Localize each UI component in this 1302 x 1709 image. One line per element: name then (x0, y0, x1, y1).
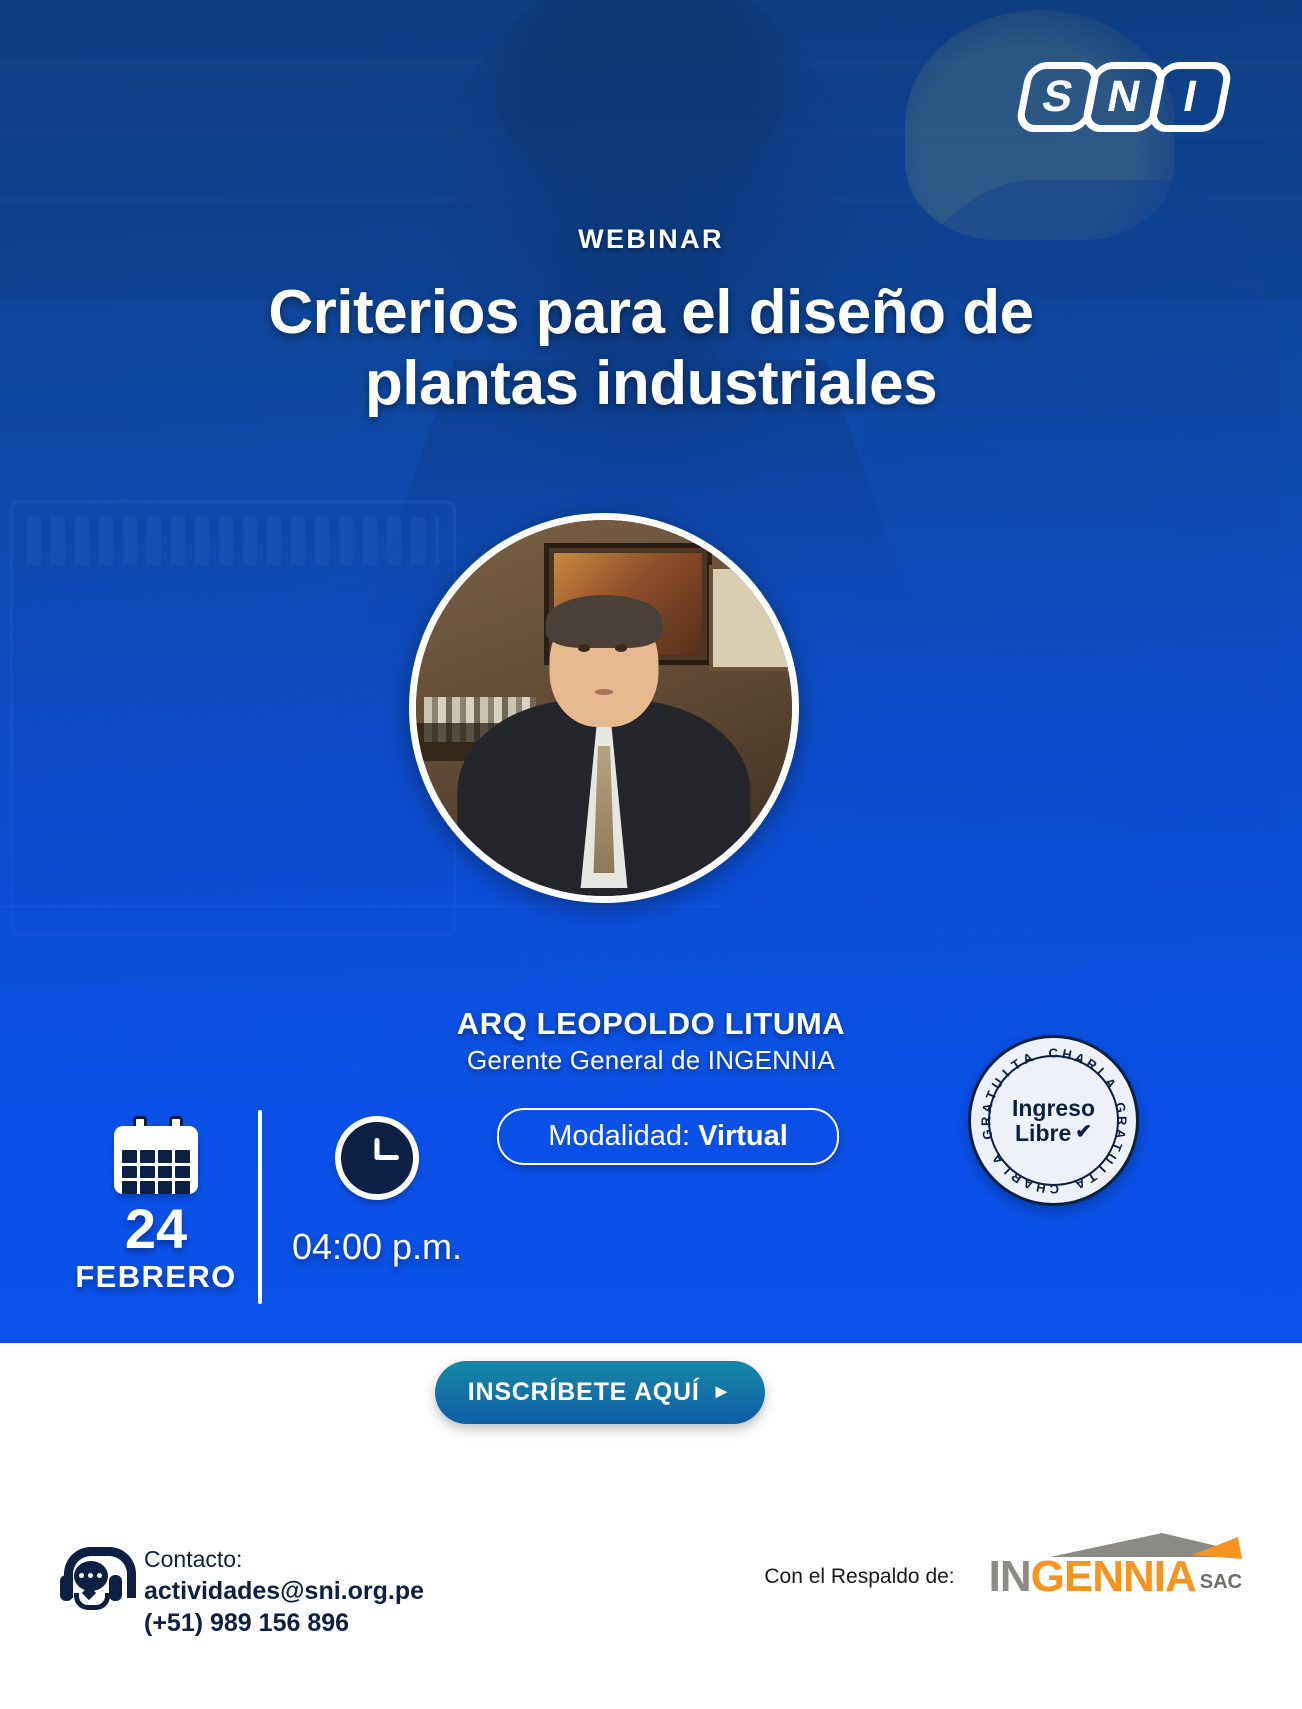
contact-phone[interactable]: (+51) 989 156 896 (144, 1607, 424, 1640)
event-time: 04:00 p.m. (272, 1226, 482, 1268)
avatar-eye-left (578, 644, 590, 652)
register-button[interactable]: INSCRÍBETE AQUÍ ► (435, 1361, 765, 1424)
contact-lines: Contacto: actividades@sni.org.pe (+51) 9… (144, 1545, 424, 1640)
chat-dots (79, 1573, 102, 1578)
webinar-kicker: WEBINAR (0, 224, 1302, 255)
sni-logo[interactable]: S N I (1029, 62, 1227, 132)
seal-line-2: Libre (1015, 1121, 1071, 1145)
clock-hand-hour (377, 1155, 399, 1160)
seal-line-1: Ingreso (1012, 1096, 1095, 1120)
sponsor-label: Con el Respaldo de: (764, 1565, 954, 1589)
ingennia-roof-icon (1042, 1529, 1242, 1559)
page-title: Criterios para el diseño de plantas indu… (90, 278, 1212, 419)
modality-badge: Modalidad: Virtual (497, 1108, 839, 1165)
headset-ear-left (60, 1575, 73, 1601)
calendar-body (114, 1126, 198, 1194)
speaker-avatar (409, 513, 799, 903)
cta-area: INSCRÍBETE AQUÍ ► (0, 1343, 1302, 1503)
sponsor-block: Con el Respaldo de: INGENNIA SAC (764, 1555, 1242, 1599)
headset-ear-right (109, 1575, 122, 1601)
ingennia-sac: SAC (1200, 1571, 1242, 1594)
ingennia-wordmark: INGENNIA (989, 1555, 1196, 1599)
contact-label: Contacto: (144, 1545, 424, 1575)
webinar-poster: S N I WEBINAR Criterios para el diseño d… (0, 0, 1302, 1709)
event-time-block: 04:00 p.m. (272, 1116, 482, 1268)
avatar-wall-frame-secondary (709, 565, 799, 671)
seal-line-2-row: Libre ✔ (1015, 1121, 1092, 1145)
check-icon: ✔ (1075, 1122, 1092, 1143)
clock-icon (335, 1116, 419, 1200)
calendar-grid (122, 1150, 190, 1194)
event-day: 24 (56, 1200, 256, 1259)
hero-panel: S N I WEBINAR Criterios para el diseño d… (0, 0, 1302, 1343)
headset-support-icon (60, 1545, 122, 1607)
contact-block: Contacto: actividades@sni.org.pe (+51) 9… (60, 1545, 424, 1640)
title-line-1: Criterios para el diseño de (90, 278, 1212, 349)
speaker-name: ARQ LEOPOLDO LITUMA (0, 1006, 1302, 1042)
footer: Contacto: actividades@sni.org.pe (+51) 9… (0, 1503, 1302, 1709)
modality-label: Modalidad: (548, 1120, 690, 1153)
title-line-2: plantas industriales (90, 349, 1212, 420)
ingennia-logo: INGENNIA SAC (989, 1555, 1242, 1599)
headset-mic (74, 1593, 110, 1610)
ingennia-prefix: IN (989, 1552, 1031, 1601)
seal-center-text: Ingreso Libre ✔ (971, 1038, 1136, 1203)
modality-value: Virtual (698, 1120, 788, 1153)
ingennia-suffix: GENNIA (1031, 1552, 1196, 1601)
event-date-block: 24 FEBRERO (56, 1116, 256, 1295)
contact-email[interactable]: actividades@sni.org.pe (144, 1575, 424, 1608)
free-entry-seal: CHARLA GRATUITA CHARLA GRATUITA Ingreso … (968, 1035, 1139, 1206)
play-arrow-icon: ► (712, 1381, 733, 1404)
calendar-icon (114, 1116, 198, 1194)
avatar-eye-right (615, 644, 627, 652)
event-month: FEBRERO (56, 1259, 256, 1295)
avatar-hair (546, 595, 663, 648)
sni-logo-letter-i: I (1153, 62, 1227, 132)
vertical-divider (258, 1110, 262, 1304)
register-button-label: INSCRÍBETE AQUÍ (468, 1378, 700, 1407)
